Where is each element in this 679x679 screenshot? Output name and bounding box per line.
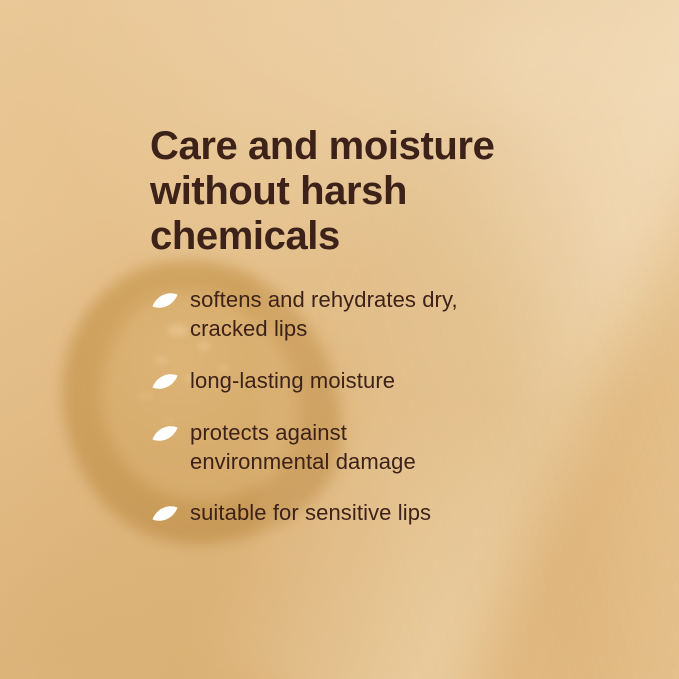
list-item: suitable for sensitive lips (150, 498, 570, 528)
list-item: softens and rehydrates dry, cracked lips (150, 285, 570, 344)
leaf-icon (150, 503, 180, 525)
page-title: Care and moisture without harsh chemical… (150, 124, 570, 260)
list-item-label: softens and rehydrates dry, cracked lips (190, 285, 458, 344)
list-item: long-lasting moisture (150, 366, 570, 396)
benefits-list: softens and rehydrates dry, cracked lips… (150, 285, 570, 528)
product-benefits-graphic: Care and moisture without harsh chemical… (0, 0, 679, 679)
list-item-label: long-lasting moisture (190, 366, 395, 395)
leaf-icon (150, 371, 180, 393)
content-column: Care and moisture without harsh chemical… (150, 0, 610, 679)
list-item-label: protects against environmental damage (190, 418, 416, 477)
list-item-label: suitable for sensitive lips (190, 498, 431, 527)
list-item: protects against environmental damage (150, 418, 570, 477)
leaf-icon (150, 290, 180, 312)
leaf-icon (150, 423, 180, 445)
